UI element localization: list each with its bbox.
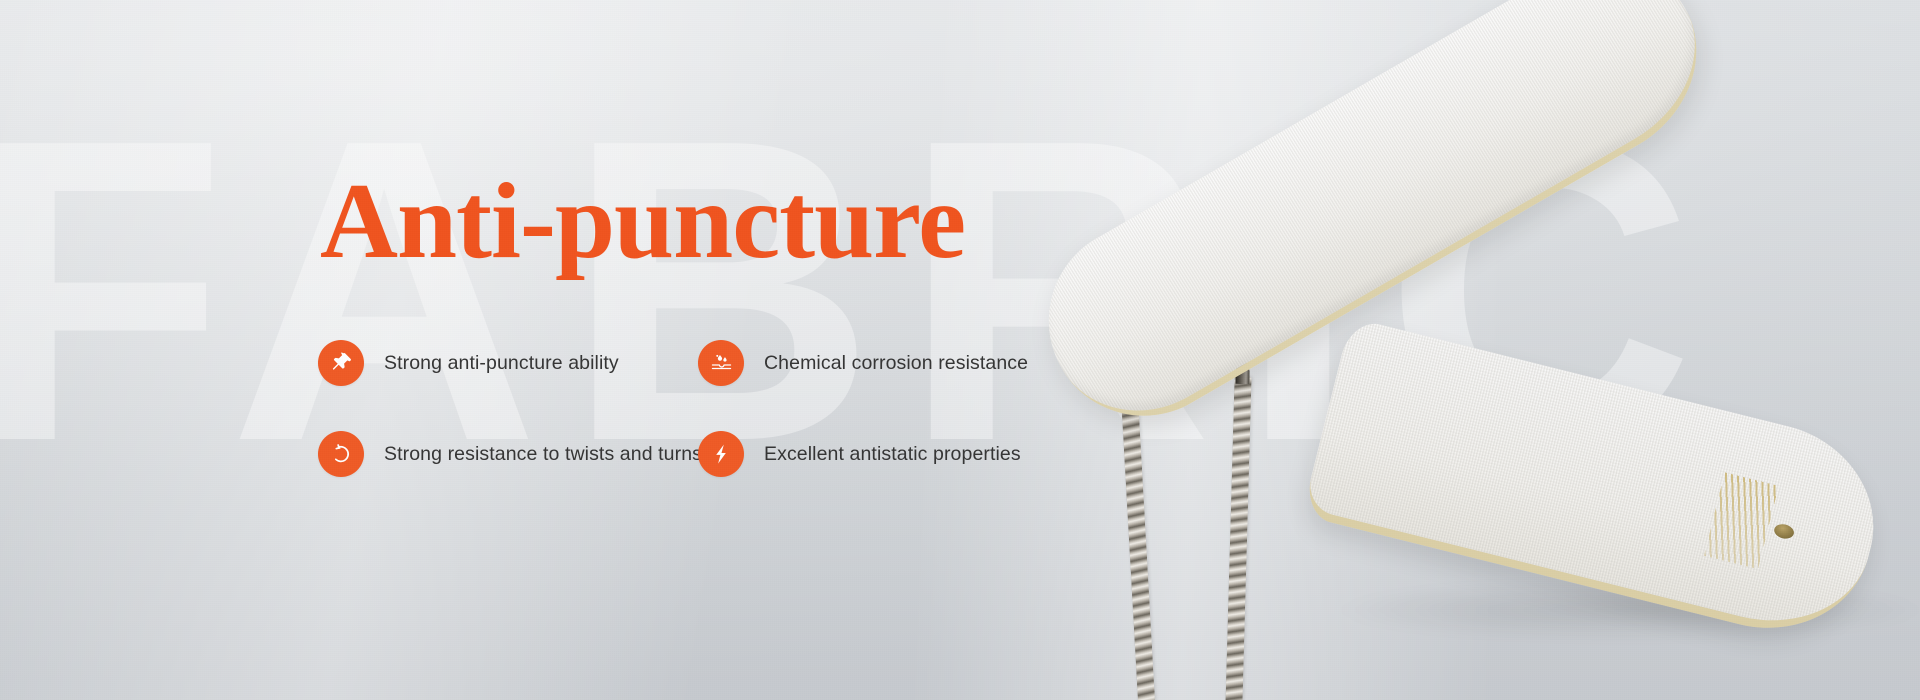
insole-heel-section [1302,317,1895,650]
insole-assembly [1030,60,1920,620]
feature-label: Excellent antistatic properties [764,443,1021,466]
insole-vent-hole [1773,522,1796,540]
product-image [1030,60,1920,700]
feature-list: Strong anti-puncture ability Chemical co… [318,340,1078,477]
feature-item-chemical-resistance: Chemical corrosion resistance [698,340,1078,386]
rotation-arrow-icon [318,431,364,477]
pushpin-icon [318,340,364,386]
feature-label: Chemical corrosion resistance [764,352,1028,375]
lightning-bolt-icon [698,431,744,477]
feature-item-anti-puncture: Strong anti-puncture ability [318,340,698,386]
feature-label: Strong anti-puncture ability [384,352,619,375]
insole-brand-marking [1704,472,1779,569]
banner-content: Anti-puncture Strong anti-puncture abili… [318,168,1078,477]
feature-item-antistatic: Excellent antistatic properties [698,431,1078,477]
feature-item-twist-resistance: Strong resistance to twists and turns [318,431,698,477]
water-drop-surface-icon [698,340,744,386]
page-title: Anti-puncture [320,168,1078,276]
feature-label: Strong resistance to twists and turns [384,443,702,466]
product-banner: FABRIC Anti-puncture [0,0,1920,700]
